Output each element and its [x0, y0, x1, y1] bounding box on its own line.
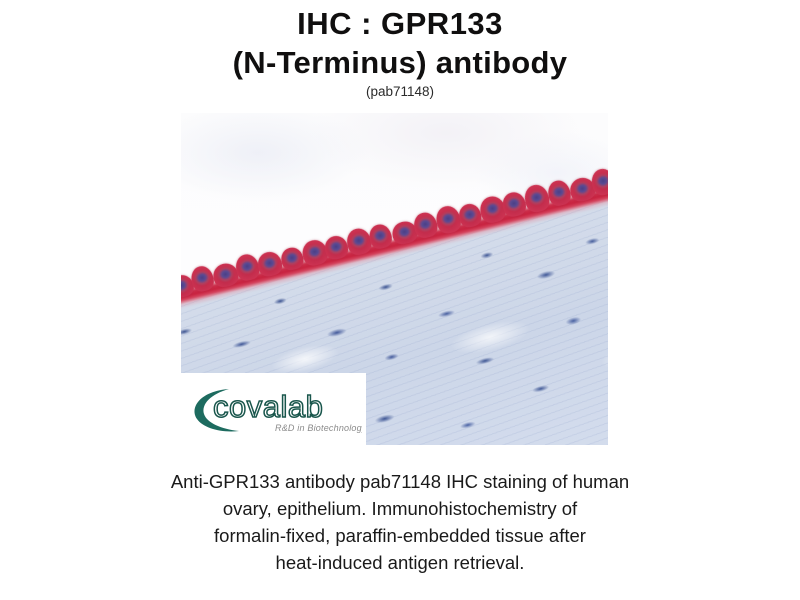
- epithelial-cell: [344, 226, 373, 257]
- covalab-logo-icon: covalab covalab R&D in Biotechnology: [187, 381, 362, 439]
- catalog-number: (pab71148): [0, 84, 800, 100]
- title-block: IHC : GPR133 (N-Terminus) antibody (pab7…: [0, 0, 800, 100]
- caption-line-3: formalin-fixed, paraffin-embedded tissue…: [0, 522, 800, 549]
- covalab-logo: covalab covalab R&D in Biotechnology: [187, 381, 362, 439]
- product-figure-page: IHC : GPR133 (N-Terminus) antibody (pab7…: [0, 0, 800, 600]
- epithelial-cell: [522, 182, 552, 214]
- epithelial-cell: [255, 249, 284, 278]
- covalab-logo-watermark: covalab covalab R&D in Biotechnology: [181, 373, 366, 445]
- epithelial-cell: [433, 203, 463, 235]
- micrograph-figure: covalab covalab R&D in Biotechnology: [181, 113, 608, 445]
- micrograph-image: covalab covalab R&D in Biotechnology: [181, 113, 608, 445]
- caption-line-2: ovary, epithelium. Immunohistochemistry …: [0, 495, 800, 522]
- figure-caption: Anti-GPR133 antibody pab71148 IHC staini…: [0, 468, 800, 576]
- caption-line-4: heat-induced antigen retrieval.: [0, 549, 800, 576]
- page-title-line-1: IHC : GPR133: [0, 5, 800, 43]
- epithelial-cell: [278, 245, 305, 272]
- covalab-tagline: R&D in Biotechnology: [275, 423, 362, 433]
- caption-line-1: Anti-GPR133 antibody pab71148 IHC staini…: [0, 468, 800, 495]
- page-title-line-2: (N-Terminus) antibody: [0, 43, 800, 83]
